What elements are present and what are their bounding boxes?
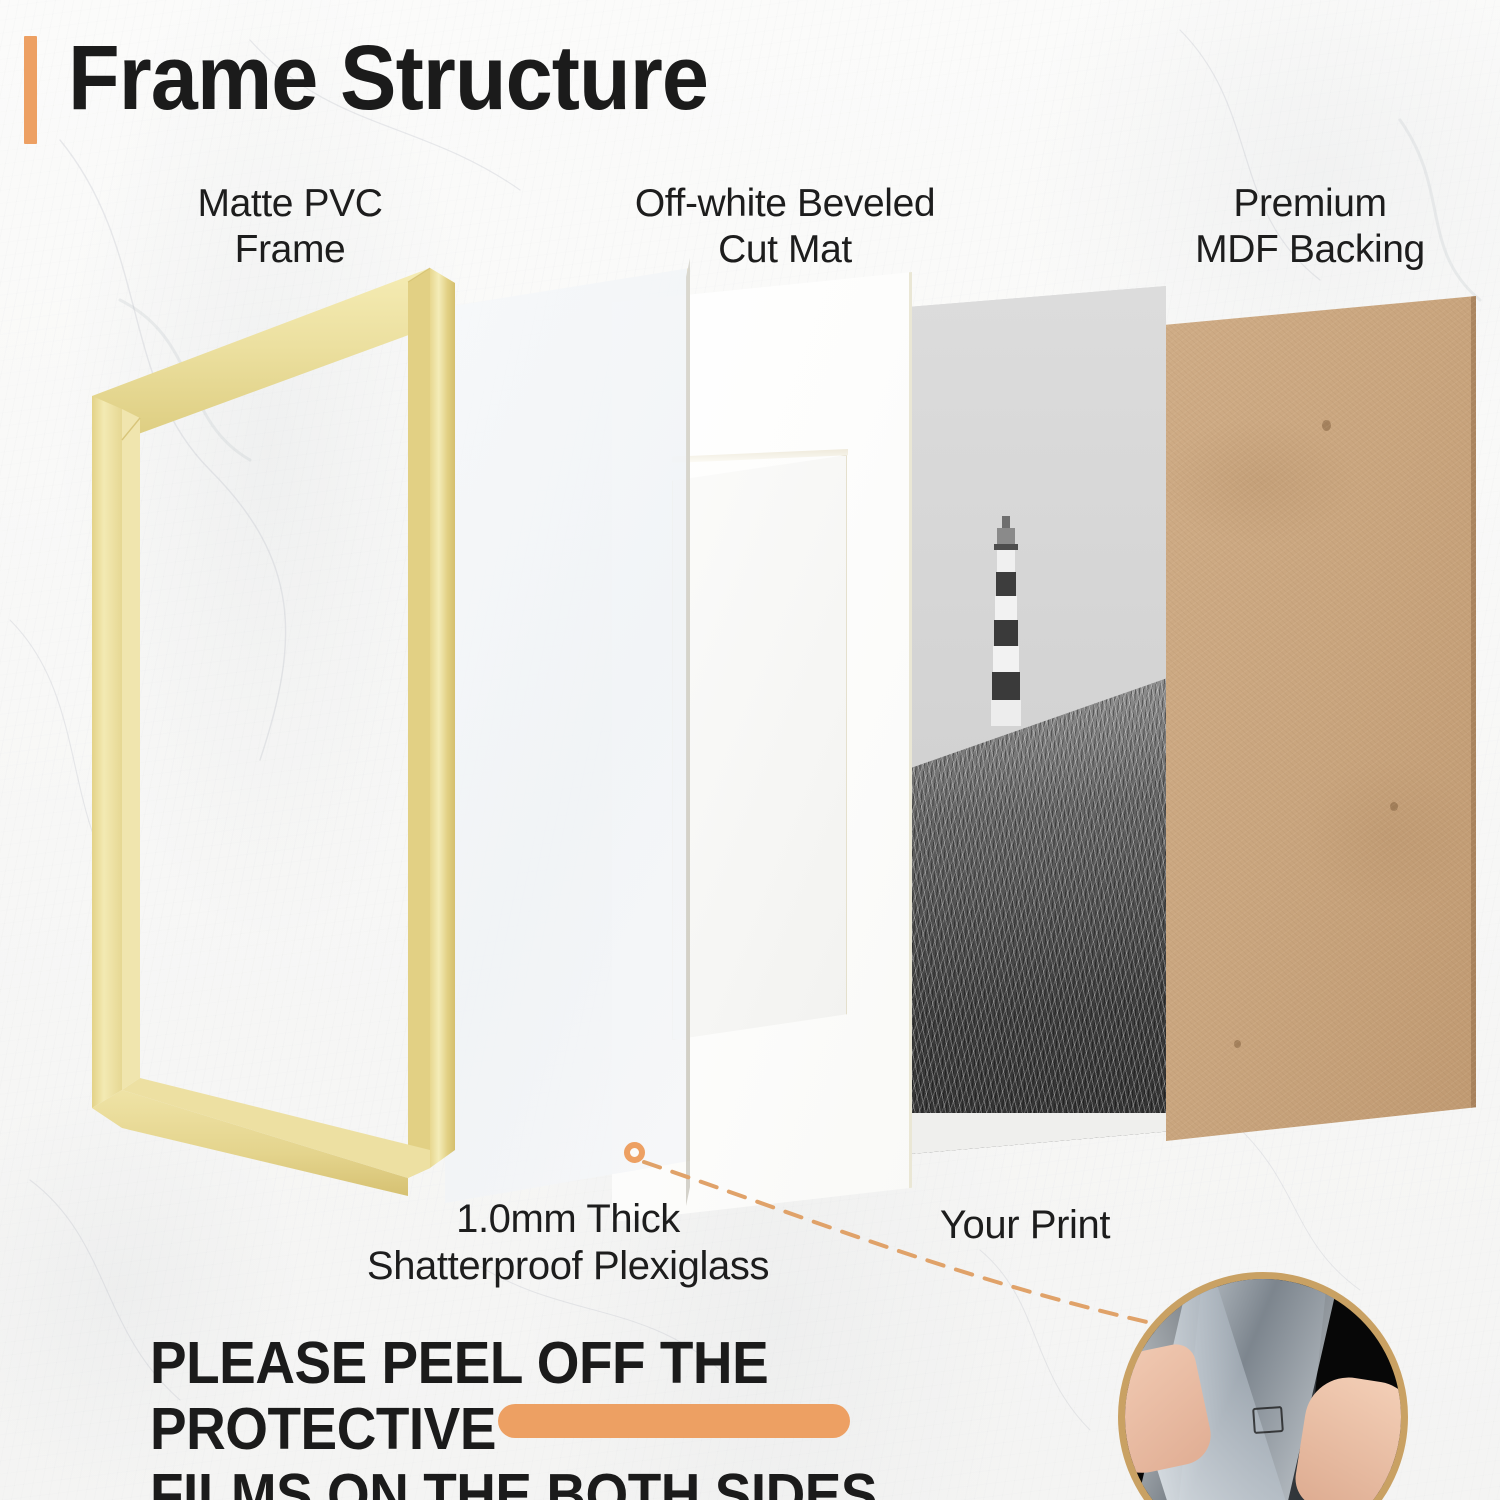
infographic-canvas: Frame Structure Matte PVC Frame Off-whit…	[0, 0, 1500, 1500]
label-line-2: Frame	[120, 227, 460, 273]
mdf-knot	[1234, 1040, 1241, 1048]
warning-line-2: FILMS ON THE BOTH SIDES	[150, 1462, 1024, 1500]
plexiglass-right-edge	[686, 258, 690, 1206]
label-line-1: Matte PVC	[120, 181, 460, 227]
warning-line-2-prefix: FILMS ON THE	[150, 1462, 546, 1500]
peel-warning: PLEASE PEEL OFF THE PROTECTIVE FILMS ON …	[150, 1330, 1024, 1500]
label-off-white-beveled-cut-mat: Off-white Beveled Cut Mat	[570, 181, 1000, 273]
callout-line-1: 1.0mm Thick	[288, 1196, 848, 1243]
lighthouse-icon	[984, 516, 1028, 726]
label-line-1: Off-white Beveled	[570, 181, 1000, 227]
mdf-knot	[1390, 802, 1398, 811]
label-matte-pvc-frame: Matte PVC Frame	[120, 181, 460, 273]
callout-line-1: Your Print	[900, 1202, 1150, 1249]
callout-line-2: Shatterproof Plexiglass	[288, 1243, 848, 1290]
mdf-knot	[1322, 420, 1331, 431]
layer-print	[888, 286, 1166, 1156]
label-line-1: Premium	[1125, 181, 1495, 227]
film-label-badge	[1252, 1406, 1284, 1434]
title-accent-bar	[24, 36, 37, 144]
layer-plexiglass	[445, 268, 690, 1203]
layer-mdf-backing	[1166, 296, 1476, 1141]
mat-window-opening	[672, 455, 847, 1040]
page-title: Frame Structure	[68, 32, 708, 124]
callout-plexiglass: 1.0mm Thick Shatterproof Plexiglass	[288, 1196, 848, 1290]
label-line-2: Cut Mat	[570, 227, 1000, 273]
callout-your-print: Your Print	[900, 1202, 1150, 1249]
warning-line-2-highlight: BOTH SIDES	[546, 1462, 877, 1500]
warning-line-1: PLEASE PEEL OFF THE PROTECTIVE	[150, 1330, 768, 1462]
label-premium-mdf-backing: Premium MDF Backing	[1125, 181, 1495, 273]
label-line-2: MDF Backing	[1125, 227, 1495, 273]
leader-origin-marker	[624, 1142, 645, 1163]
